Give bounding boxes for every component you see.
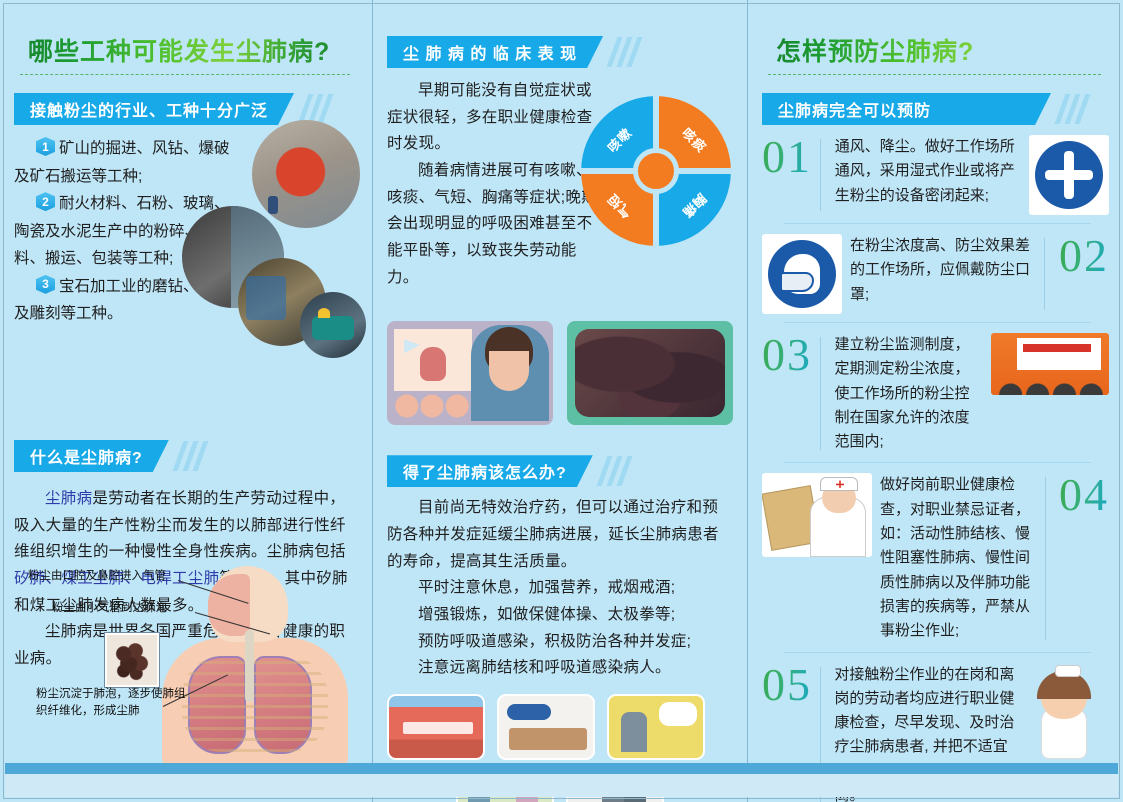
prevention-text-01: 通风、降尘。做好工作场所通风，采用湿式作业或将产生粉尘的设备密闭起来;: [835, 135, 1021, 208]
section-header-treatment: 得了尘肺病该怎么办?: [387, 455, 733, 487]
title-divider-right: [768, 74, 1101, 75]
section-header-clinical: 尘 肺 病 的 临 床 表 现: [387, 36, 733, 68]
treatment-body: 目前尚无特效治疗药，但可以通过治疗和预防各种并发症延缓尘肺病进展，延长尘肺病患者…: [387, 495, 733, 682]
column-right: 怎样预防尘肺病? 尘肺病完全可以预防 01 通风、降尘。做好工作场所通风，采用湿…: [747, 0, 1123, 802]
section-header-industries-label: 接触粉尘的行业、工种十分广泛: [30, 97, 268, 121]
label-dust-to-alveoli: 粉尘由小气管到达肺泡: [52, 600, 167, 617]
monitoring-meeting-photo: [991, 333, 1109, 395]
industry-photo-cluster: [176, 120, 366, 360]
title-divider-left: [20, 74, 350, 75]
prevention-item-03: 03 建立粉尘监测制度，定期测定粉尘浓度，使工作场所的粉尘控制在国家允许的浓度范…: [762, 333, 1109, 463]
prevention-text-04: 做好岗前职业健康检查，对职业禁忌证者，如：活动性肺结核、慢性阻塞性肺病、慢性间质…: [880, 473, 1037, 643]
bottom-accent-band: [5, 763, 1118, 774]
poster-root: 哪些工种可能发生尘肺病? 接触粉尘的行业、工种十分广泛 1矿山的掘进、风钻、爆破…: [0, 0, 1123, 802]
section-header-treatment-label: 得了尘肺病该怎么办?: [403, 459, 567, 483]
fan-icon: [1029, 135, 1109, 215]
photo-coughing-patient: [387, 321, 553, 425]
clinical-paragraph-2: 随着病情进展可有咳嗽、咳痰、气短、胸痛等症状;晚期会出现明显的呼吸困难甚至不能平…: [387, 158, 601, 291]
bottom-strip: [5, 774, 1118, 797]
clinical-photos: [387, 321, 733, 425]
label-dust-fibrosis: 粉尘沉淀于肺泡，逐步使肺组织纤维化，形成尘肺: [36, 686, 196, 721]
photo-drilling-workers: [300, 292, 366, 358]
column-left: 哪些工种可能发生尘肺病? 接触粉尘的行业、工种十分广泛 1矿山的掘进、风钻、爆破…: [0, 0, 372, 802]
cartoon-quit-smoking: [497, 694, 595, 760]
slash-decoration-icon: [607, 37, 637, 67]
prevention-number-03: 03: [762, 333, 812, 377]
treatment-line-2: 增强锻炼，如做保健体操、太极拳等;: [387, 602, 733, 629]
torso-illustration: [162, 568, 348, 768]
section-header-prevention: 尘肺病完全可以预防: [762, 93, 1109, 125]
cartoon-avoid-infection: [607, 694, 705, 760]
quadrant-hub: [633, 148, 679, 194]
section-header-what-is: 什么是尘肺病?: [14, 440, 358, 472]
treatment-line-1: 平时注意休息，加强营养，戒烟戒酒;: [387, 575, 733, 602]
prevention-item-04: 做好岗前职业健康检查，对职业禁忌证者，如：活动性肺结核、慢性阻塞性肺病、慢性间质…: [762, 473, 1109, 652]
clinical-body: 早期可能没有自觉症状或症状很轻，多在职业健康检查时发现。 随着病情进展可有咳嗽、…: [387, 78, 601, 291]
photo-diseased-lung: [567, 321, 733, 425]
treatment-paragraph-1: 目前尚无特效治疗药，但可以通过治疗和预防各种并发症延缓尘肺病进展，延长尘肺病患者…: [387, 495, 733, 575]
slash-decoration-icon: [597, 456, 627, 486]
trachea-icon: [245, 630, 254, 702]
clinical-paragraph-1: 早期可能没有自觉症状或症状很轻，多在职业健康检查时发现。: [387, 78, 601, 158]
prevention-text-03: 建立粉尘监测制度，定期测定粉尘浓度，使工作场所的粉尘控制在国家允许的浓度范围内;: [835, 333, 984, 454]
page-title-right: 怎样预防尘肺病?: [762, 32, 1109, 68]
term-pneumoconiosis: 尘肺病: [45, 490, 92, 507]
section-header-prevention-label: 尘肺病完全可以预防: [778, 97, 931, 121]
slash-decoration-icon: [173, 441, 203, 471]
treatment-line-4: 注意远离肺结核和呼吸道感染病人。: [387, 655, 733, 682]
prevention-item-01: 01 通风、降尘。做好工作场所通风，采用湿式作业或将产生粉尘的设备密闭起来;: [762, 135, 1109, 224]
doctor-photo: [762, 473, 872, 557]
prevention-number-05: 05: [762, 663, 812, 707]
prevention-number-02: 02: [1059, 234, 1109, 278]
dust-mask-icon: [762, 234, 842, 314]
nurse-photo: [1023, 663, 1109, 763]
prevention-number-01: 01: [762, 135, 812, 179]
prevention-number-04: 04: [1059, 473, 1109, 517]
column-middle: 尘 肺 病 的 临 床 表 现 早期可能没有自觉症状或症状很轻，多在职业健康检查…: [372, 0, 747, 802]
section-header-clinical-label: 尘 肺 病 的 临 床 表 现: [403, 40, 577, 64]
number-badge-3: 3: [36, 275, 55, 294]
section-header-what-is-label: 什么是尘肺病?: [30, 444, 143, 468]
alveoli-inset-image: [104, 632, 160, 688]
label-dust-enters-trachea: 粉尘由口腔及鼻腔进入气管: [28, 568, 166, 585]
page-title-left: 哪些工种可能发生尘肺病?: [14, 32, 358, 68]
number-badge-2: 2: [36, 192, 55, 211]
cartoon-exercise: [387, 694, 485, 760]
prevention-text-02: 在粉尘浓度高、防尘效果差的工作场所，应佩戴防尘口罩;: [850, 234, 1036, 307]
symptom-quadrant-chart: 咳嗽 咳痰 气短 胸痛: [581, 96, 731, 246]
number-badge-1: 1: [36, 137, 55, 156]
prevention-item-02: 在粉尘浓度高、防尘效果差的工作场所，应佩戴防尘口罩; 02: [762, 234, 1109, 323]
lung-diagram: 粉尘由口腔及鼻腔进入气管 粉尘由小气管到达肺泡 粉尘沉淀于肺泡，逐步使肺组织纤维…: [0, 558, 372, 768]
treatment-line-3: 预防呼吸道感染，积极防治各种并发症;: [387, 629, 733, 656]
slash-decoration-icon: [1055, 94, 1085, 124]
